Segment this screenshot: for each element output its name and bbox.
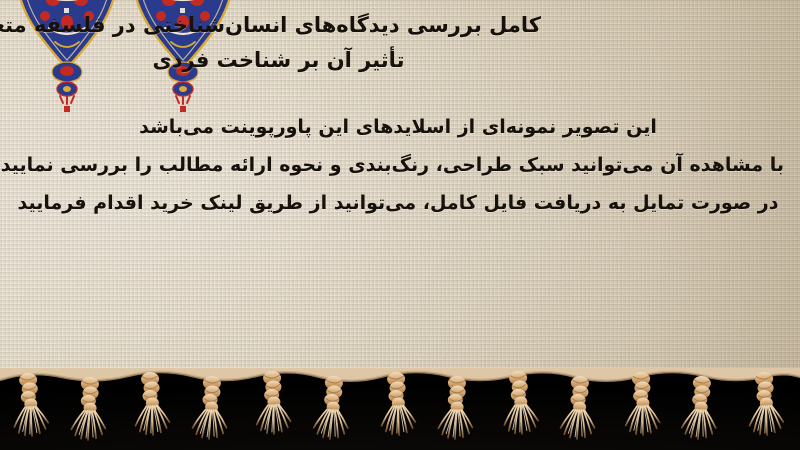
slide-title: کامل بررسی دیدگاه‌های انسان‌شناختی در فل… — [16, 8, 786, 78]
title-line-1: کامل بررسی دیدگاه‌های انسان‌شناختی در فل… — [16, 8, 786, 43]
carpet-knotted-fringe — [0, 368, 800, 450]
title-line-2: تأثیر آن بر شناخت فردی — [16, 43, 786, 78]
slide-canvas: کامل بررسی دیدگاه‌های انسان‌شناختی در فل… — [0, 0, 800, 450]
tassel-row — [11, 370, 784, 441]
carpet-fringe-band — [0, 368, 800, 450]
body-line-1: این تصویر نمونه‌ای از اسلایدهای این پاور… — [12, 108, 784, 146]
body-line-2: با مشاهده آن می‌توانید سبک طراحی، رنگ‌بن… — [12, 146, 784, 184]
slide-body: این تصویر نمونه‌ای از اسلایدهای این پاور… — [12, 108, 784, 222]
body-line-3: در صورت تمایل به دریافت فایل کامل، می‌تو… — [12, 184, 784, 222]
